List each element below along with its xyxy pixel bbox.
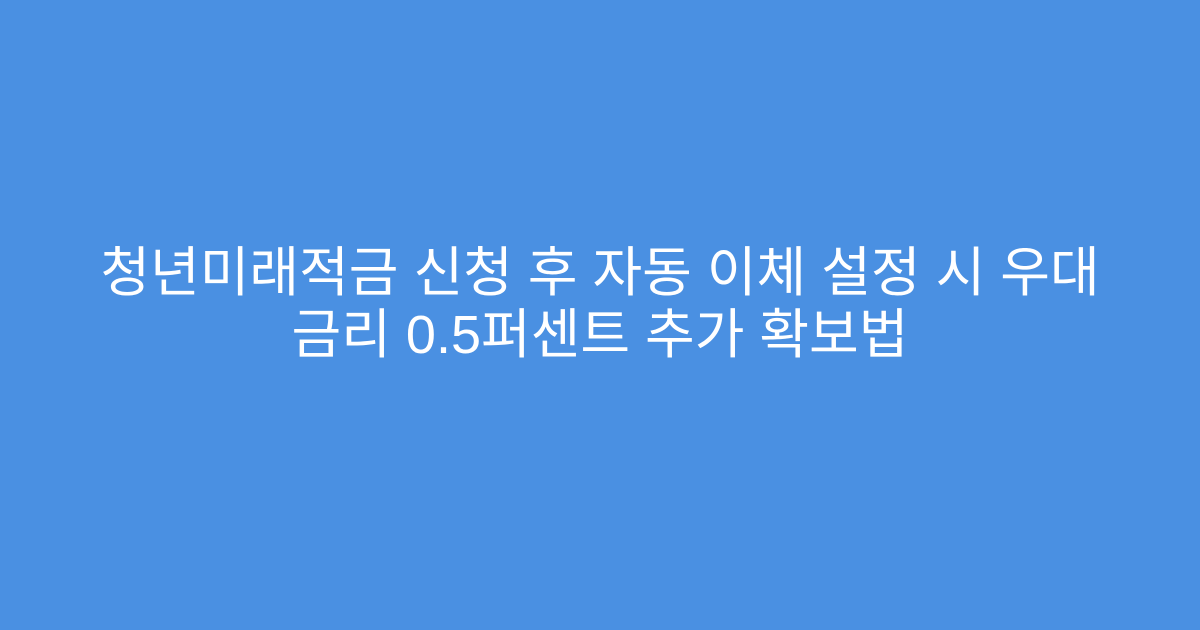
share-card: 청년미래적금 신청 후 자동 이체 설정 시 우대 금리 0.5퍼센트 추가 확… <box>0 0 1200 630</box>
page-title: 청년미래적금 신청 후 자동 이체 설정 시 우대 금리 0.5퍼센트 추가 확… <box>50 242 1150 366</box>
headline-block: 청년미래적금 신청 후 자동 이체 설정 시 우대 금리 0.5퍼센트 추가 확… <box>0 242 1200 366</box>
